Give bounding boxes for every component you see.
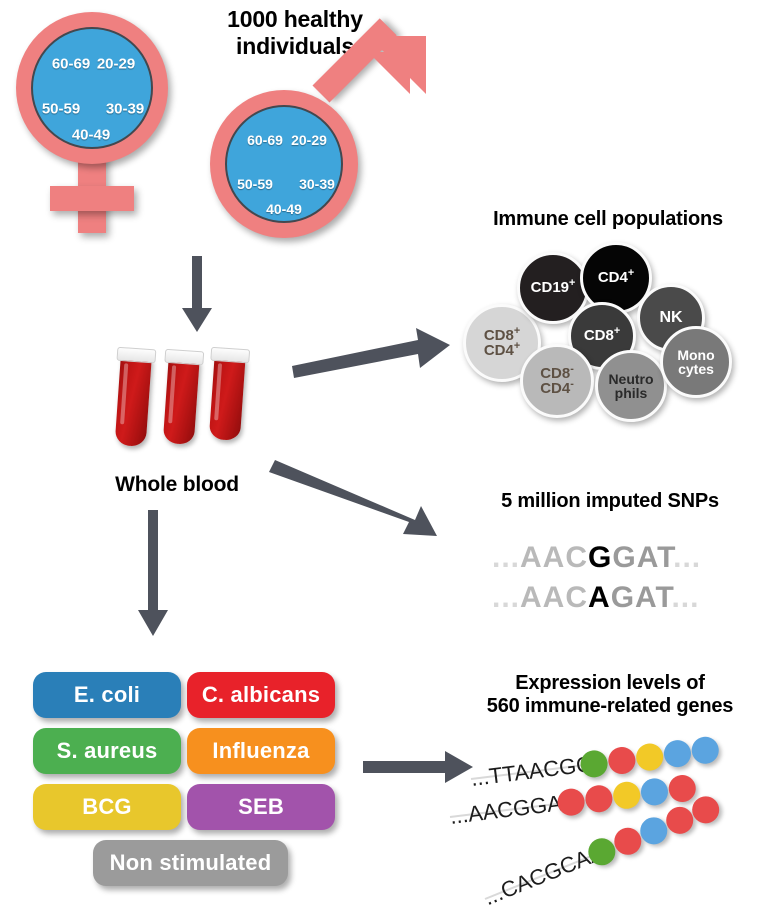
arrow-blood-to-snps xyxy=(265,428,455,538)
blood-tube-3-neck xyxy=(210,347,250,364)
immune-cell-cd8pos-cd4pos-label: CD8+ CD4+ xyxy=(484,328,520,359)
female-pie-label-40-49: 40-49 xyxy=(72,127,110,144)
snp-2-pre: AAC xyxy=(520,581,588,614)
stimulus-bcg-label: BCG xyxy=(82,794,132,820)
blood-tube-2 xyxy=(163,349,200,445)
male-pie-label-20-29: 20-29 xyxy=(291,132,327,148)
blood-tube-1-neck xyxy=(116,347,156,364)
snp-1-pre: AAC xyxy=(520,541,588,574)
snp-2-variant: A xyxy=(588,581,611,614)
expression-title-line1: Expression levels of xyxy=(455,672,765,695)
male-arrowhead xyxy=(360,32,430,102)
immune-cell-nk-label: NK xyxy=(659,310,682,326)
immune-cell-monocytes: Mono cytes xyxy=(660,326,732,398)
immune-cell-cd8neg-cd4neg-label: CD8- CD4- xyxy=(540,366,574,397)
blood-tube-2-neck xyxy=(164,349,204,366)
snp-sequence-row-2: ...AACAGAT... xyxy=(492,581,699,615)
stimulus-influenza-label: Influenza xyxy=(212,738,309,764)
immune-cell-neutrophils: Neutro phils xyxy=(595,350,667,422)
snp-1-lead: ... xyxy=(492,541,520,574)
strand-1-bead-2 xyxy=(607,745,637,775)
snp-1-variant: G xyxy=(588,541,612,574)
male-pie-label-50-59: 50-59 xyxy=(237,176,273,192)
strand-1-bead-3 xyxy=(635,742,665,772)
whole-blood-label: Whole blood xyxy=(82,473,272,497)
immune-section-title: Immune cell populations xyxy=(448,208,768,231)
female-pie-label-60-69: 60-69 xyxy=(52,56,90,73)
blood-tube-1 xyxy=(115,347,153,447)
stimulus-s-aureus[interactable]: S. aureus xyxy=(33,728,181,774)
immune-cell-cluster: CD8+ CD4+ CD19+ CD4+ NK CD8+ CD8- CD4- N… xyxy=(455,240,755,425)
female-pie-label-20-29: 20-29 xyxy=(97,56,135,73)
stimulus-c-albicans[interactable]: C. albicans xyxy=(187,672,335,718)
strand-2-bead-3 xyxy=(612,780,642,810)
immune-cell-cd4-label: CD4+ xyxy=(598,270,634,285)
arrow-blood-to-stimuli xyxy=(136,510,170,638)
female-pie-label-30-39: 30-39 xyxy=(106,101,144,118)
stimulus-bcg[interactable]: BCG xyxy=(33,784,181,830)
stimulus-s-aureus-label: S. aureus xyxy=(57,738,158,764)
male-pie-label-30-39: 30-39 xyxy=(299,176,335,192)
stimulus-c-albicans-label: C. albicans xyxy=(202,682,320,708)
female-pie-label-50-59: 50-59 xyxy=(42,101,80,118)
expression-title-line2: 560 immune-related genes xyxy=(455,695,765,718)
expression-section-title: Expression levels of 560 immune-related … xyxy=(455,672,765,718)
snp-2-trail: ... xyxy=(671,581,699,614)
male-pie-label-60-69: 60-69 xyxy=(247,132,283,148)
whole-blood-tubes xyxy=(100,338,290,448)
blood-tube-3 xyxy=(209,347,246,441)
arrow-cohort-to-blood xyxy=(180,256,214,334)
strand-1-bead-4 xyxy=(662,739,692,769)
stimulus-influenza[interactable]: Influenza xyxy=(187,728,335,774)
male-pie-label-40-49: 40-49 xyxy=(266,201,302,217)
snp-2-lead: ... xyxy=(492,581,520,614)
male-symbol: 20-29 30-39 40-49 50-59 60-69 xyxy=(205,30,430,245)
stimulus-seb[interactable]: SEB xyxy=(187,784,335,830)
strand-2-bead-4 xyxy=(639,777,669,807)
snp-2-post: GAT xyxy=(611,581,672,614)
stimulus-seb-label: SEB xyxy=(238,794,284,820)
blood-tube-2-body xyxy=(163,358,200,445)
snp-sequence-row-1: ...AACGGAT... xyxy=(492,541,701,575)
expression-strands: ...TTAACGG ...AACGGAT ...CACGCAA xyxy=(455,740,771,920)
snp-1-trail: ... xyxy=(673,541,701,574)
female-symbol: 20-29 30-39 40-49 50-59 60-69 xyxy=(8,8,193,243)
strand-2-sequence: ...AACGGAT xyxy=(448,789,575,830)
stimulus-non-stimulated-label: Non stimulated xyxy=(110,850,272,876)
stimulus-e-coli[interactable]: E. coli xyxy=(33,672,181,718)
immune-cell-cd19-label: CD19+ xyxy=(531,280,576,295)
strand-1-bead-5 xyxy=(690,735,720,765)
immune-cell-cd8neg-cd4neg: CD8- CD4- xyxy=(520,344,594,418)
immune-cell-cd8-label: CD8+ xyxy=(584,328,620,343)
stimuli-panel: E. coli C. albicans S. aureus Influenza … xyxy=(30,672,350,898)
female-stem-horizontal xyxy=(50,186,134,211)
strand-2-bead-2 xyxy=(584,784,614,814)
stimulus-e-coli-label: E. coli xyxy=(74,682,140,708)
stimulus-non-stimulated[interactable]: Non stimulated xyxy=(93,840,288,886)
snps-section-title: 5 million imputed SNPs xyxy=(455,490,765,513)
snp-1-post: GAT xyxy=(612,541,673,574)
arrow-blood-to-immune xyxy=(290,320,455,380)
blood-tube-1-body xyxy=(115,356,152,447)
blood-tube-3-body xyxy=(209,356,246,441)
immune-cell-monocytes-label: Mono cytes xyxy=(677,348,714,377)
immune-cell-neutrophils-label: Neutro phils xyxy=(608,372,653,401)
